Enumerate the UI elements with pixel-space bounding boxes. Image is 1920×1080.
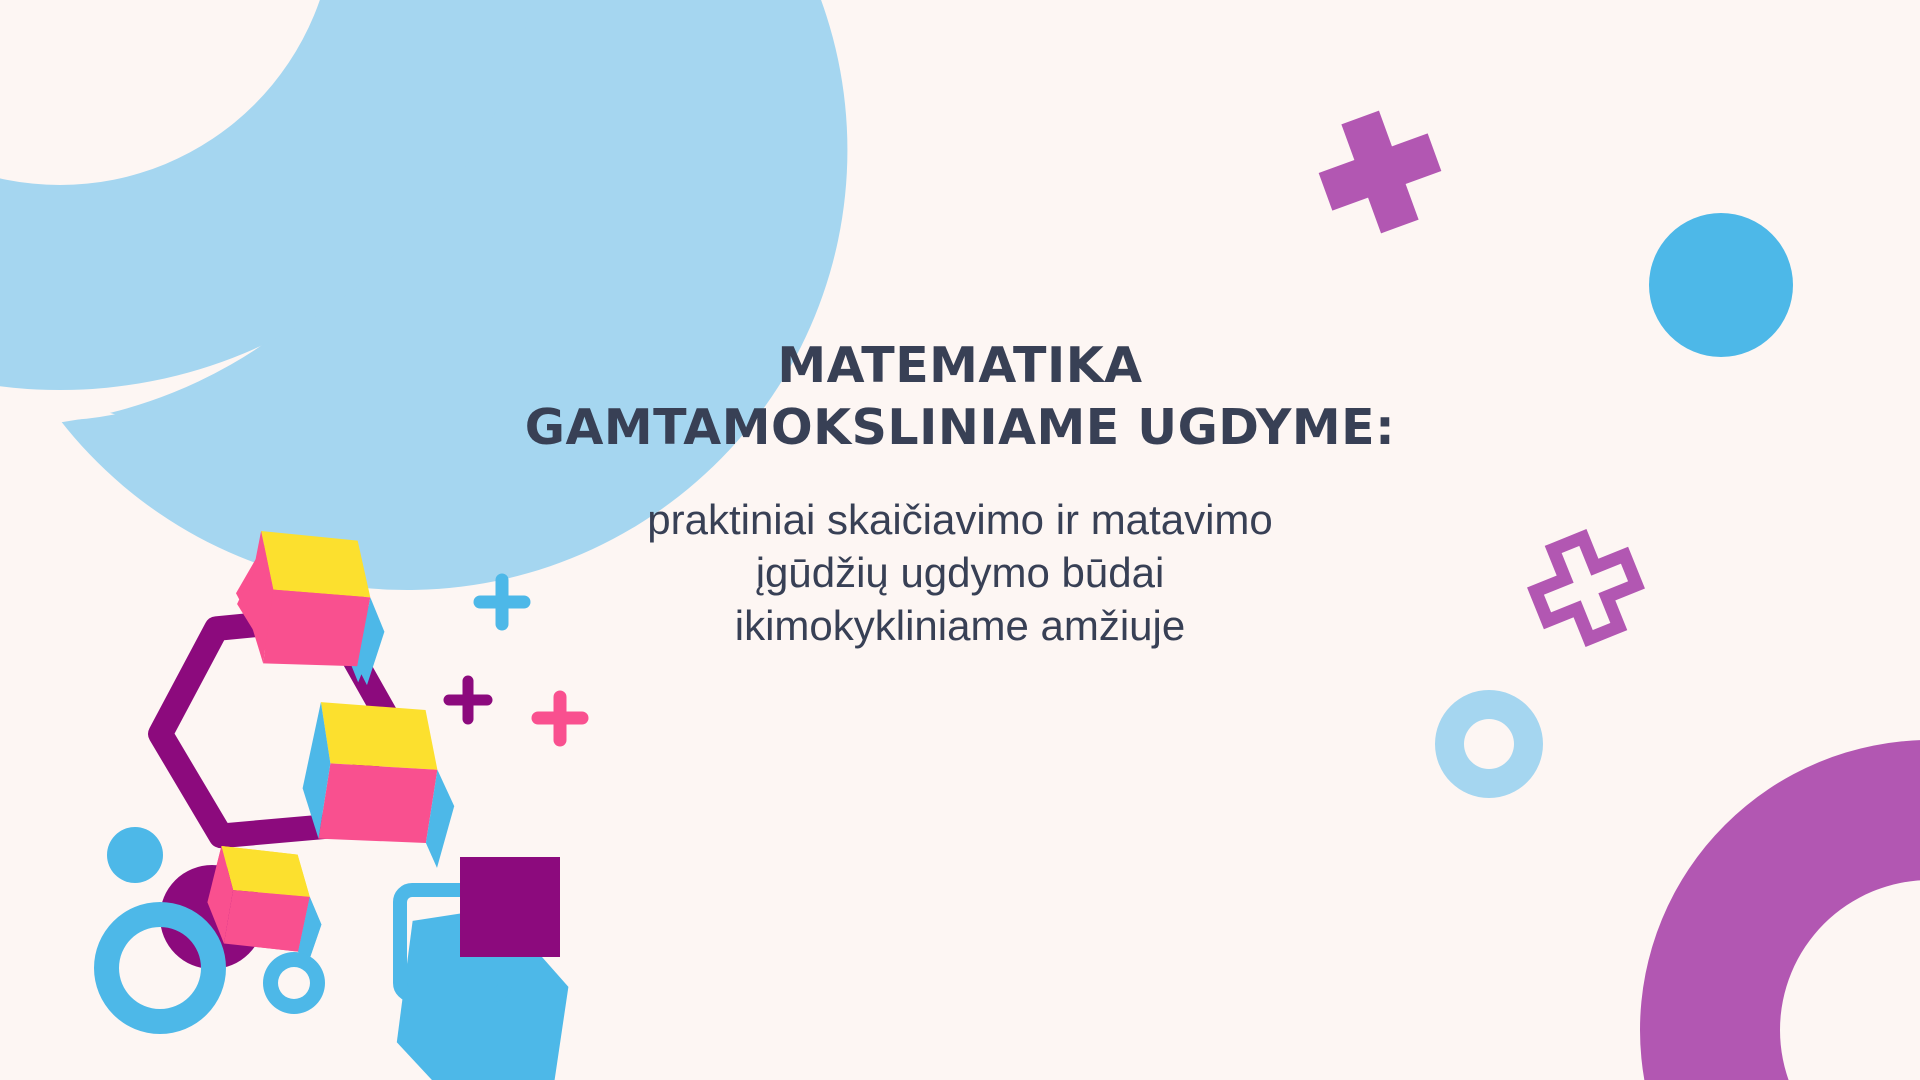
blue-ring-small-icon (263, 952, 325, 1014)
blue-dot-icon (107, 827, 163, 883)
pink-plus-icon (538, 697, 582, 740)
isometric-cube-top (230, 517, 404, 690)
isometric-cube-middle-icon (292, 688, 472, 868)
blue-circle-icon (1649, 213, 1793, 357)
subtitle-line-3: ikimokykliniame amžiuje (460, 600, 1460, 653)
purple-cross-filled-icon (1306, 98, 1455, 247)
isometric-cube-bottom-overlay (198, 836, 337, 969)
purple-hexagon-outline-icon (160, 617, 388, 835)
top-left-ring-mask (0, 0, 468, 426)
purple-circle-icon (160, 865, 264, 969)
isometric-cube-bottom-icon (198, 836, 337, 969)
title-line-2: GAMTAMOKSLINIAME UGDYME: (460, 397, 1460, 459)
bottom-right-orchid-ring-icon (1640, 740, 1920, 1080)
purple-plus-icon (449, 681, 487, 719)
purple-cross-outline-icon (1524, 526, 1649, 651)
subtitle-line-2: įgūdžių ugdymo būdai (460, 547, 1460, 600)
title-line-1: MATEMATIKA (460, 335, 1460, 397)
top-left-blue-donut (0, 0, 540, 390)
isometric-cube-top-icon (222, 520, 400, 684)
blue-hexagon-icon (397, 908, 569, 1080)
light-blue-ring-icon (1435, 690, 1543, 798)
subtitle-line-1: praktiniai skaičiavimo ir matavimo (460, 494, 1460, 547)
purple-square-icon (460, 857, 560, 957)
title-slide: MATEMATIKA GAMTAMOKSLINIAME UGDYME: prak… (0, 0, 1920, 1080)
page-subtitle: praktiniai skaičiavimo ir matavimo įgūdž… (460, 458, 1460, 653)
blue-square-outline-icon (400, 890, 505, 995)
blue-ring-large-icon (94, 902, 226, 1034)
page-title: MATEMATIKA GAMTAMOKSLINIAME UGDYME: (460, 335, 1460, 458)
title-text-block: MATEMATIKA GAMTAMOKSLINIAME UGDYME: prak… (460, 335, 1460, 653)
